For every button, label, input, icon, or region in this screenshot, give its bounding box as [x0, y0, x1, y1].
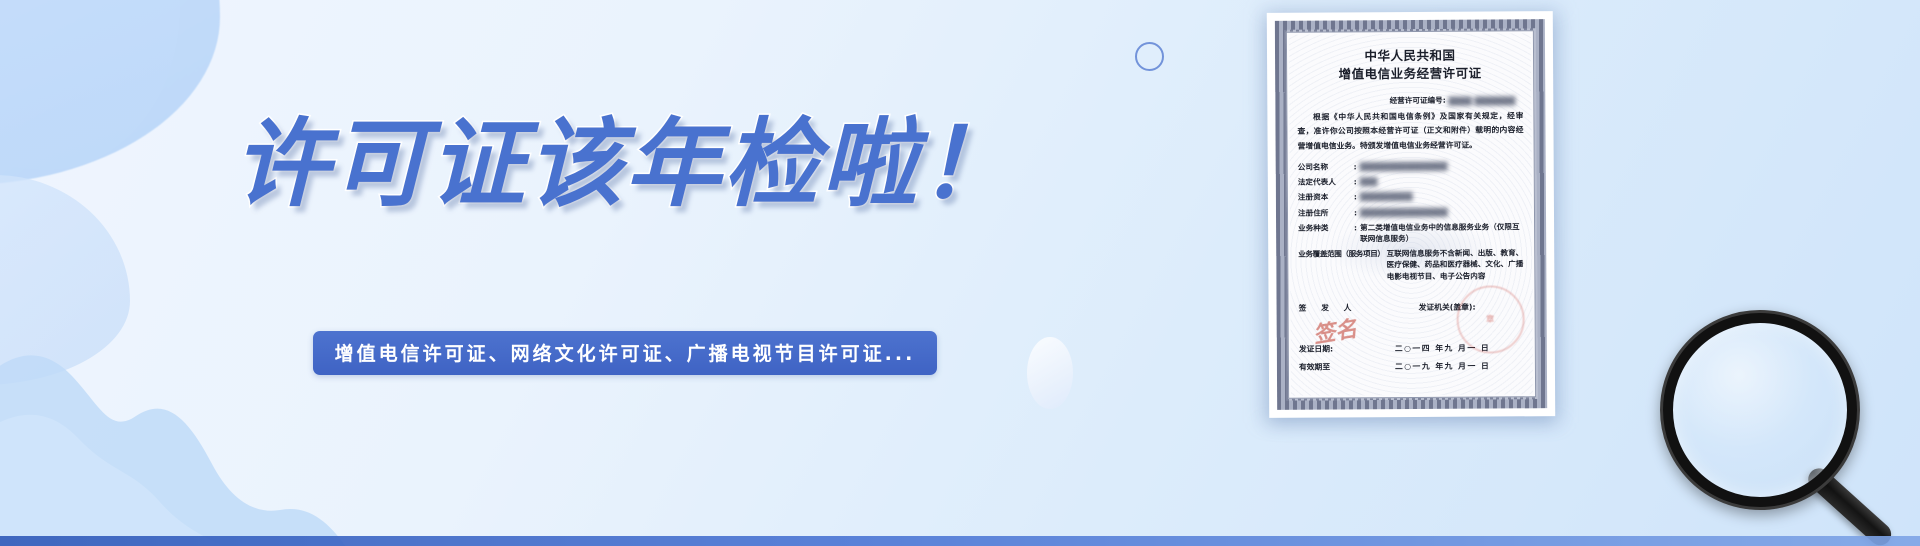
- certificate-content: 中华人民共和国 增值电信业务经营许可证 经营许可证编号: ████ ██████…: [1291, 35, 1531, 393]
- certificate-field-label: 注册住所:: [1298, 207, 1358, 220]
- official-stamp-icon: 章: [1456, 285, 1524, 353]
- magnifier-lens: [1660, 310, 1860, 510]
- subtitle-container: 增值电信许可证、网络文化许可证、广播电视节目许可证...: [0, 331, 1250, 375]
- promo-banner: 许可证该年检啦！ 增值电信许可证、网络文化许可证、广播电视节目许可证... 中华…: [0, 0, 1920, 546]
- subtitle-badge: 增值电信许可证、网络文化许可证、广播电视节目许可证...: [313, 331, 938, 375]
- certificate-license-number-row: 经营许可证编号: ████ ███████: [1291, 95, 1529, 107]
- certificate-image: 中华人民共和国 增值电信业务经营许可证 经营许可证编号: ████ ██████…: [1267, 11, 1555, 418]
- certificate-field-row: 法定代表人: ███: [1298, 175, 1524, 189]
- magnifier-icon: [1660, 310, 1890, 540]
- decorative-mountain-shape: [0, 256, 520, 546]
- certificate-field-label: 业务覆盖范围（服务项目）: [1298, 248, 1384, 261]
- certificate-field-value: ███████████████: [1358, 206, 1524, 219]
- certificate-signature-row: 签 发 人 发证机关(盖章): 签名 章: [1293, 301, 1531, 313]
- certificate-body-text: 根据《中华人民共和国电信条例》及国家有关规定，经审查，准许你公司按照本经营许可证…: [1291, 110, 1529, 154]
- certificate-field-value: ███████████████: [1358, 160, 1524, 173]
- certificate-field-row: 业务种类: 第二类增值电信业务中的信息服务业务（仅限互联网信息服务）: [1298, 221, 1524, 245]
- certificate-date-row: 有效期至 二○一九 年九 月一 日: [1299, 360, 1525, 372]
- certificate-field-label: 注册资本:: [1298, 192, 1358, 205]
- page-title: 许可证该年检啦！: [0, 116, 1250, 212]
- certificate-field-row: 公司名称: ███████████████: [1298, 160, 1524, 174]
- certificate-date-value: 二○一九 年九 月一 日: [1373, 360, 1525, 372]
- certificate-date-label: 有效期至: [1299, 361, 1373, 372]
- certificate-field-value: █████████: [1358, 191, 1524, 204]
- certificate-field-label: 业务种类:: [1298, 222, 1358, 235]
- certificate-field-value: ███: [1358, 175, 1524, 188]
- certificate-title: 中华人民共和国 增值电信业务经营许可证: [1291, 46, 1529, 84]
- certificate-field-row: 业务覆盖范围（服务项目） 互联网信息服务不含新闻、出版、教育、医疗保健、药品和医…: [1298, 247, 1524, 283]
- certificate-field-value: 第二类增值电信业务中的信息服务业务（仅限互联网信息服务）: [1358, 221, 1524, 245]
- certificate-title-line2: 增值电信业务经营许可证: [1291, 64, 1529, 84]
- certificate-field-label: 公司名称:: [1298, 161, 1358, 174]
- certificate-field-value: 互联网信息服务不含新闻、出版、教育、医疗保健、药品和医疗器械、文化、广播电影电视…: [1385, 247, 1525, 282]
- certificate-field-label: 法定代表人:: [1298, 176, 1358, 189]
- certificate-field-row: 注册资本: █████████: [1298, 191, 1524, 205]
- ring-outline-icon: [1135, 42, 1164, 71]
- certificate-license-number-value: ████ ███████: [1448, 96, 1515, 105]
- certificate-license-number-label: 经营许可证编号:: [1390, 96, 1446, 105]
- magnifier-handle: [1804, 464, 1896, 546]
- certificate-title-line1: 中华人民共和国: [1291, 46, 1529, 66]
- certificate-fields: 公司名称: ███████████████ 法定代表人: ███ 注册资本: █…: [1292, 160, 1531, 283]
- certificate-field-row: 注册住所: ███████████████: [1298, 206, 1524, 220]
- bottom-accent-strip: [0, 536, 1920, 546]
